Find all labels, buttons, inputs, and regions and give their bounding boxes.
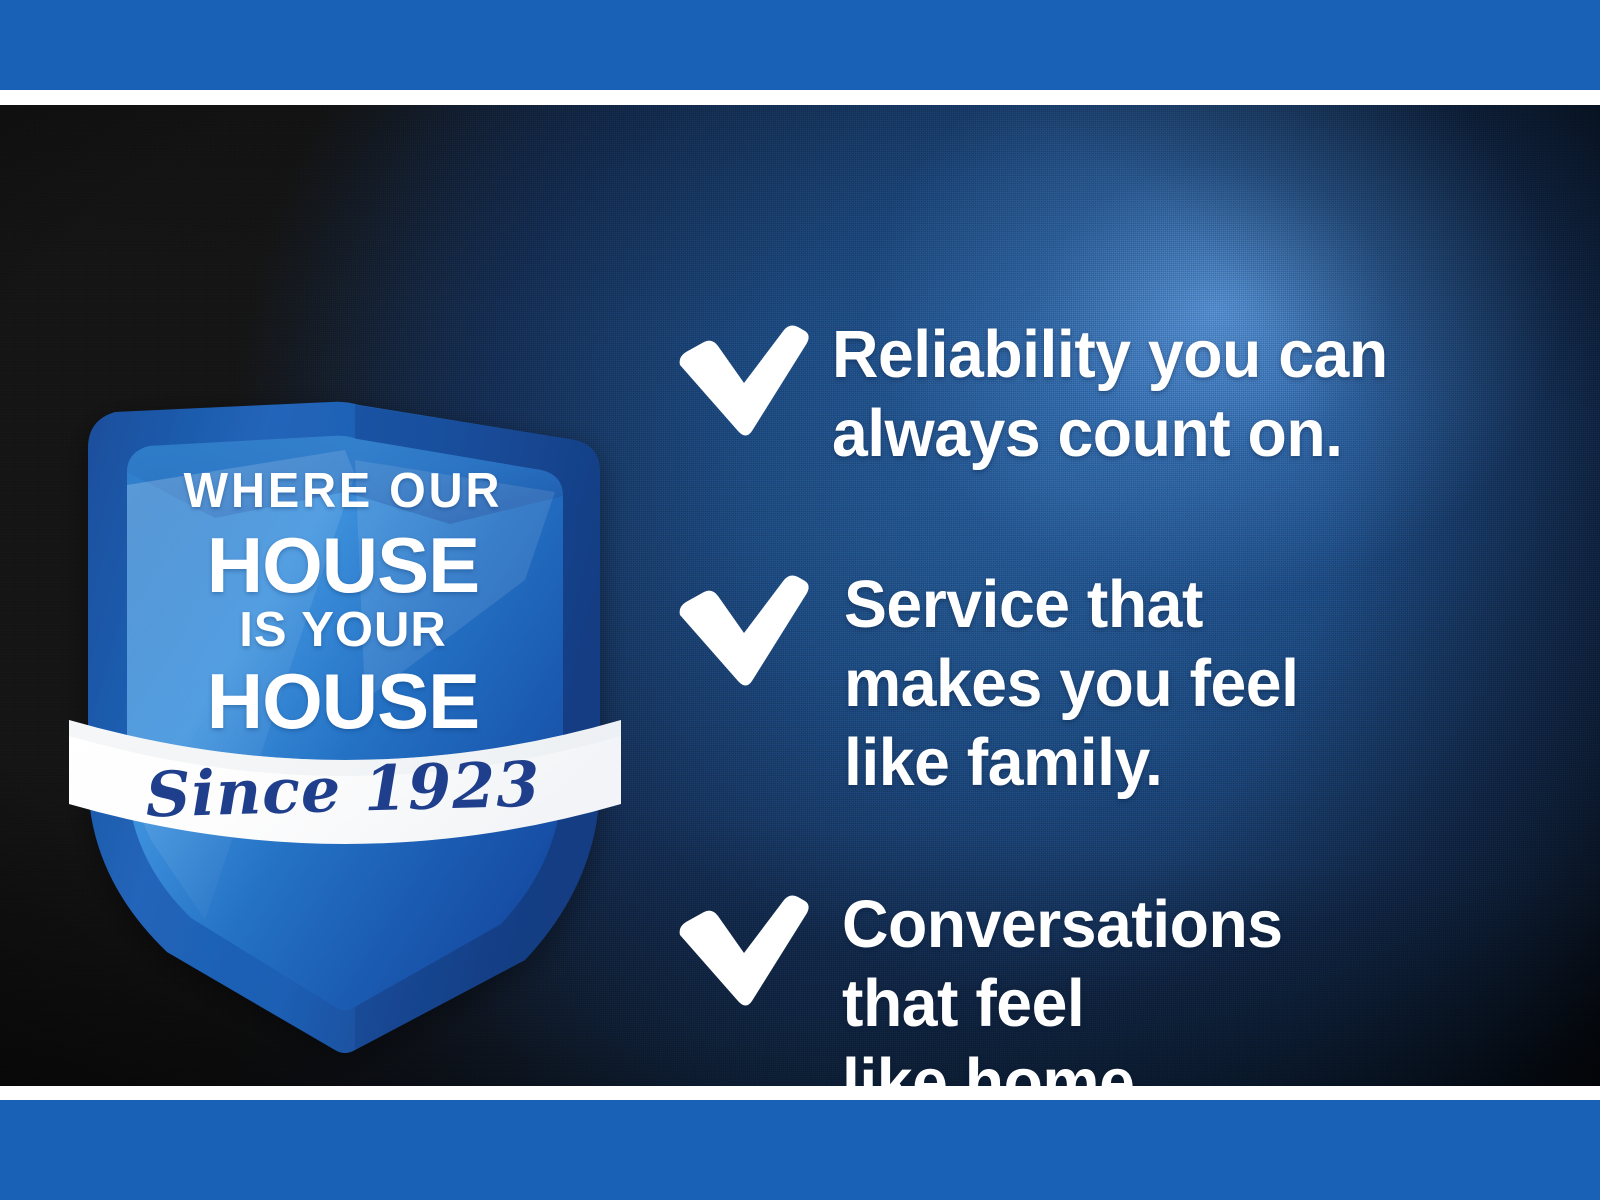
check-mark-icon bbox=[672, 315, 822, 439]
benefit-text: Service that makes you feel like family. bbox=[844, 565, 1504, 802]
benefit-item-conversations: Conversations that feel like home. bbox=[672, 885, 1532, 1086]
benefit-item-service: Service that makes you feel like family. bbox=[672, 565, 1532, 802]
check-mark-icon bbox=[672, 565, 822, 689]
benefit-list: Reliability you can always count on. Ser… bbox=[672, 210, 1532, 1086]
check-mark-icon bbox=[672, 885, 822, 1009]
artwork-canvas: WHERE OUR HOUSE IS YOUR HOUSE Since 1923… bbox=[0, 105, 1600, 1086]
bottom-bar-divider bbox=[0, 1086, 1600, 1100]
benefit-text: Reliability you can always count on. bbox=[832, 315, 1504, 473]
shield-badge bbox=[55, 280, 635, 1070]
promo-graphic: WHERE OUR HOUSE IS YOUR HOUSE Since 1923… bbox=[0, 0, 1600, 1200]
bottom-brand-bar bbox=[0, 1100, 1600, 1200]
top-brand-bar bbox=[0, 0, 1600, 90]
benefit-text: Conversations that feel like home. bbox=[842, 885, 1504, 1086]
benefit-item-reliability: Reliability you can always count on. bbox=[672, 315, 1532, 473]
since-year-script: Since 1923 bbox=[87, 746, 599, 833]
top-bar-divider bbox=[0, 90, 1600, 105]
